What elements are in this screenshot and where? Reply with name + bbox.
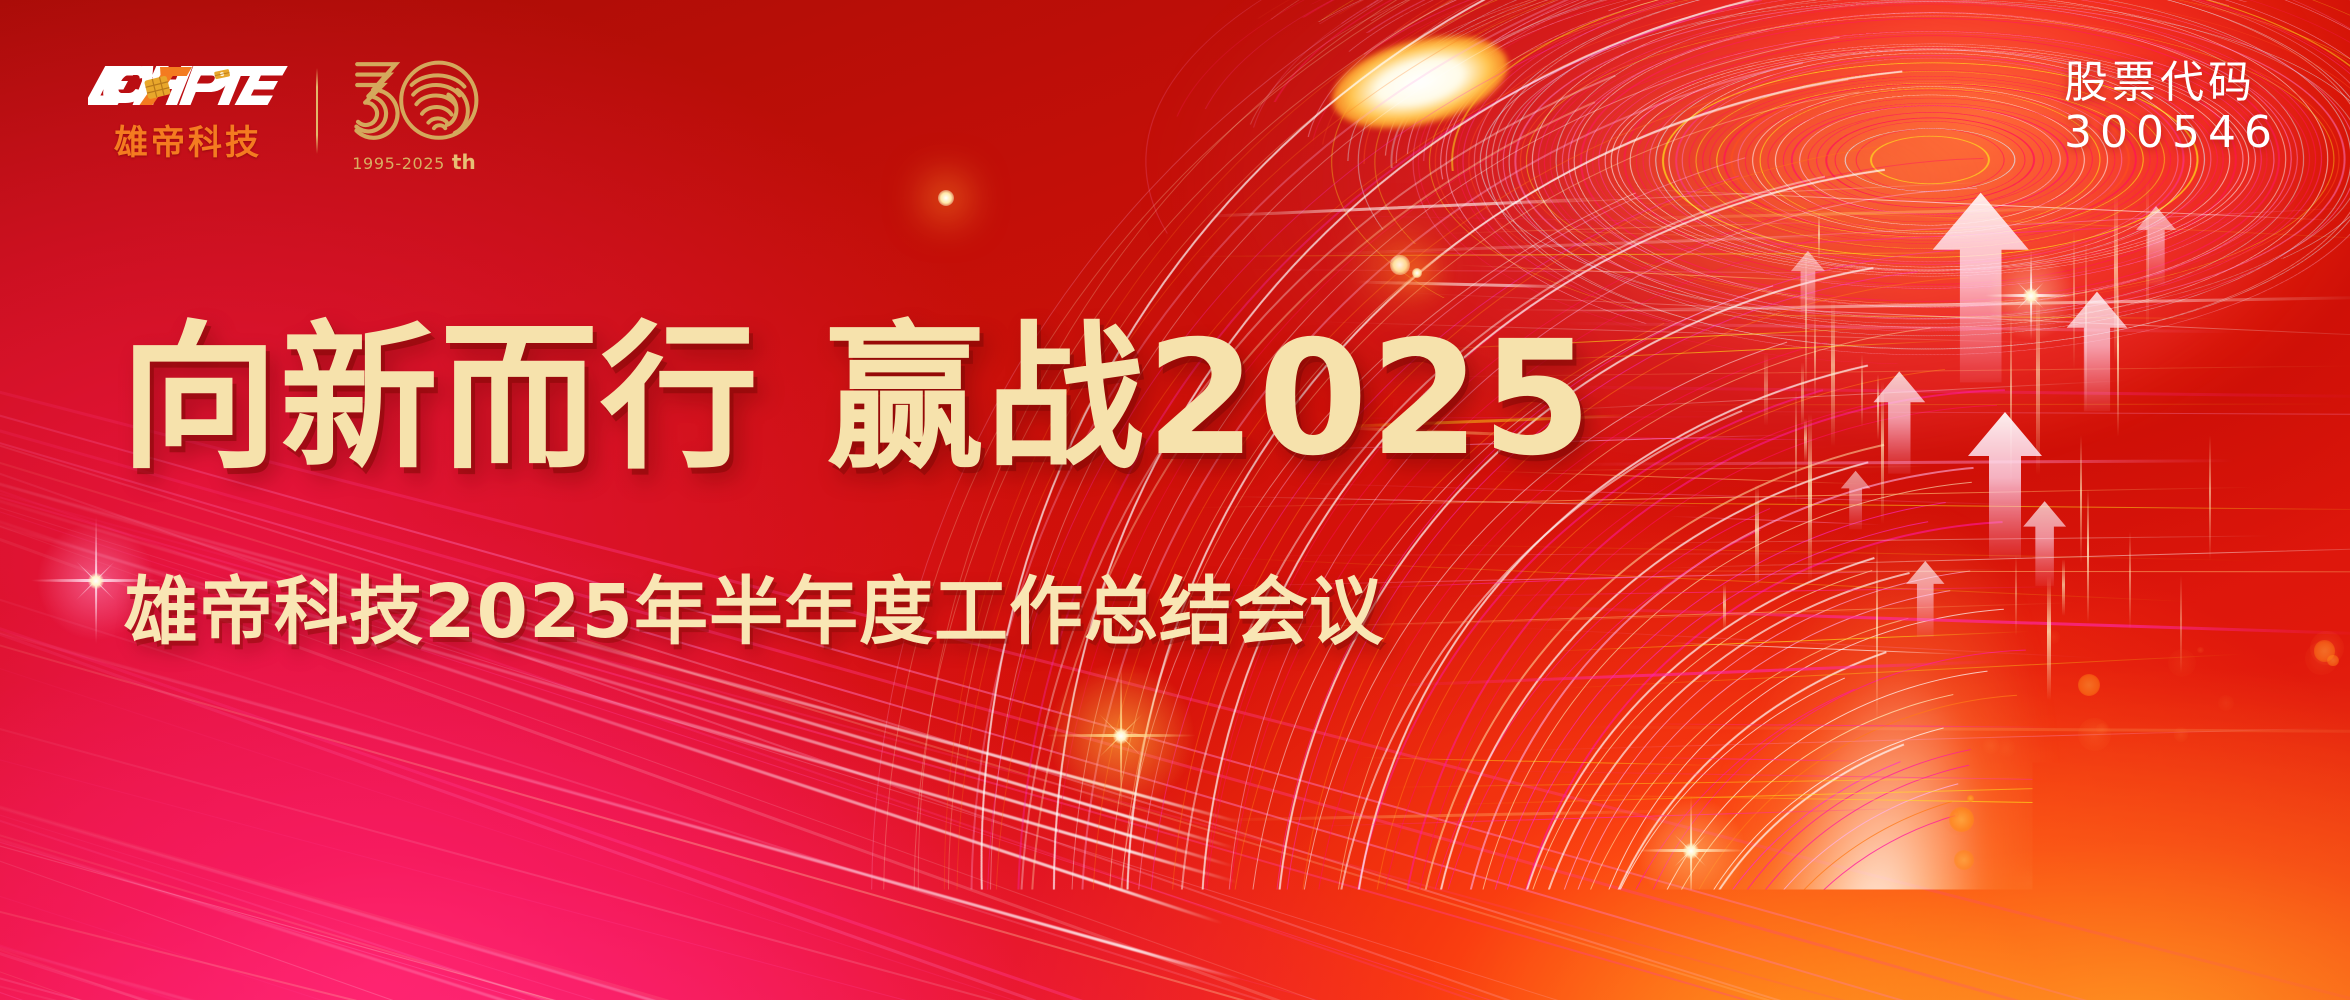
headline-part-two: 赢战2025 xyxy=(826,320,1594,478)
logo-divider xyxy=(316,68,318,154)
banner-root: 雄帝科技 xyxy=(0,0,2350,1000)
anniversary-years: 1995-2025 th xyxy=(352,150,475,174)
page-subtitle: 雄帝科技2025年半年度工作总结会议 xyxy=(124,575,1384,649)
anniversary-badge: 1995-2025 th xyxy=(346,48,482,174)
brand-lockup: 雄帝科技 xyxy=(88,48,482,174)
anniversary-year-range: 1995-2025 xyxy=(352,154,445,173)
stock-code-block: 股票代码 300546 xyxy=(2064,58,2280,160)
emptech-chinese-name: 雄帝科技 xyxy=(114,115,262,164)
stock-code-number: 300546 xyxy=(2064,107,2280,160)
headline-part-one: 向新而行 xyxy=(120,320,760,478)
page-title: 向新而行 赢战2025 xyxy=(120,320,1594,478)
stock-code-label: 股票代码 xyxy=(2064,58,2280,107)
banner-content: 雄帝科技 xyxy=(0,0,2350,1000)
emptech-logo: 雄帝科技 xyxy=(88,59,288,164)
anniversary-suffix: th xyxy=(452,150,476,174)
emptech-wordmark-icon xyxy=(88,59,288,113)
anniversary-30-icon xyxy=(346,48,482,154)
